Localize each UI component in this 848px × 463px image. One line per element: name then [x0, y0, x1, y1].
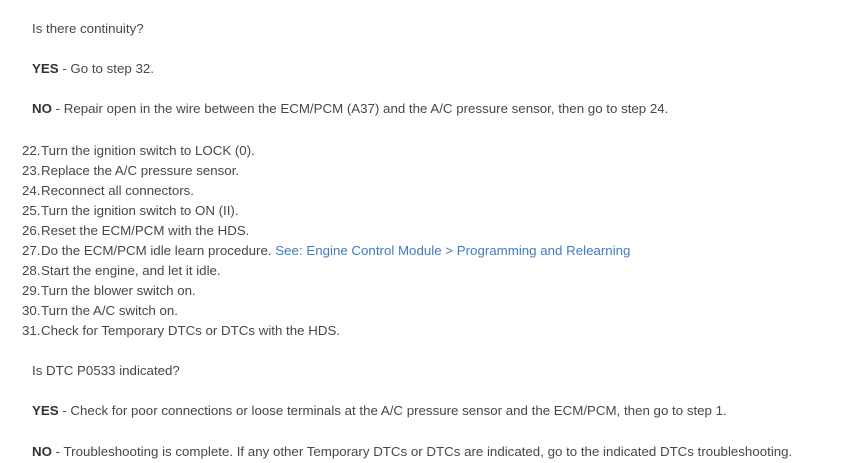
step-text: Reset the ECM/PCM with the HDS. — [41, 223, 249, 238]
list-item: 25.Turn the ignition switch to ON (II). — [0, 201, 848, 221]
step-text: Turn the A/C switch on. — [41, 303, 178, 318]
dtc-no-answer: NO - Troubleshooting is complete. If any… — [0, 442, 848, 462]
step-text: Check for Temporary DTCs or DTCs with th… — [41, 323, 340, 338]
step-text: Do the ECM/PCM idle learn procedure. — [41, 243, 275, 258]
step-number: 22. — [22, 141, 41, 161]
list-item: 22.Turn the ignition switch to LOCK (0). — [0, 141, 848, 161]
step-text: Turn the blower switch on. — [41, 283, 196, 298]
continuity-question-text: Is there continuity? — [32, 21, 144, 36]
document-page: Is there continuity? YES - Go to step 32… — [0, 0, 848, 463]
step-number: 31. — [22, 321, 41, 341]
yes-label: YES — [32, 403, 59, 418]
step-number: 29. — [22, 281, 41, 301]
step-text: Replace the A/C pressure sensor. — [41, 163, 239, 178]
step-number: 26. — [22, 221, 41, 241]
list-item: 27.Do the ECM/PCM idle learn procedure. … — [0, 241, 848, 261]
procedure-step-list: 22.Turn the ignition switch to LOCK (0).… — [0, 141, 848, 341]
step-number: 25. — [22, 201, 41, 221]
no-label: NO — [32, 444, 52, 459]
step-text: Turn the ignition switch to LOCK (0). — [41, 143, 255, 158]
dtc-yes-answer: YES - Check for poor connections or loos… — [0, 401, 848, 421]
no-label: NO — [32, 101, 52, 116]
yes-answer-text: - Check for poor connections or loose te… — [59, 403, 727, 418]
list-item: 24.Reconnect all connectors. — [0, 181, 848, 201]
dtc-question: Is DTC P0533 indicated? — [0, 361, 848, 381]
list-item: 31.Check for Temporary DTCs or DTCs with… — [0, 321, 848, 341]
list-item: 28.Start the engine, and let it idle. — [0, 261, 848, 281]
step-text: Start the engine, and let it idle. — [41, 263, 221, 278]
continuity-question: Is there continuity? — [0, 19, 848, 39]
list-item: 30.Turn the A/C switch on. — [0, 301, 848, 321]
step-number: 23. — [22, 161, 41, 181]
yes-answer-text: - Go to step 32. — [59, 61, 154, 76]
step-number: 24. — [22, 181, 41, 201]
list-item: 29.Turn the blower switch on. — [0, 281, 848, 301]
list-item: 23.Replace the A/C pressure sensor. — [0, 161, 848, 181]
step-number: 30. — [22, 301, 41, 321]
step-number: 27. — [22, 241, 41, 261]
continuity-yes-answer: YES - Go to step 32. — [0, 59, 848, 79]
step-text: Reconnect all connectors. — [41, 183, 194, 198]
no-answer-text: - Troubleshooting is complete. If any ot… — [52, 444, 792, 459]
step-number: 28. — [22, 261, 41, 281]
dtc-question-text: Is DTC P0533 indicated? — [32, 363, 180, 378]
no-answer-text: - Repair open in the wire between the EC… — [52, 101, 668, 116]
engine-control-module-link[interactable]: See: Engine Control Module > Programming… — [275, 243, 630, 258]
document-body: Is there continuity? YES - Go to step 32… — [0, 0, 848, 462]
continuity-no-answer: NO - Repair open in the wire between the… — [0, 99, 848, 119]
list-item: 26.Reset the ECM/PCM with the HDS. — [0, 221, 848, 241]
step-text: Turn the ignition switch to ON (II). — [41, 203, 239, 218]
yes-label: YES — [32, 61, 59, 76]
